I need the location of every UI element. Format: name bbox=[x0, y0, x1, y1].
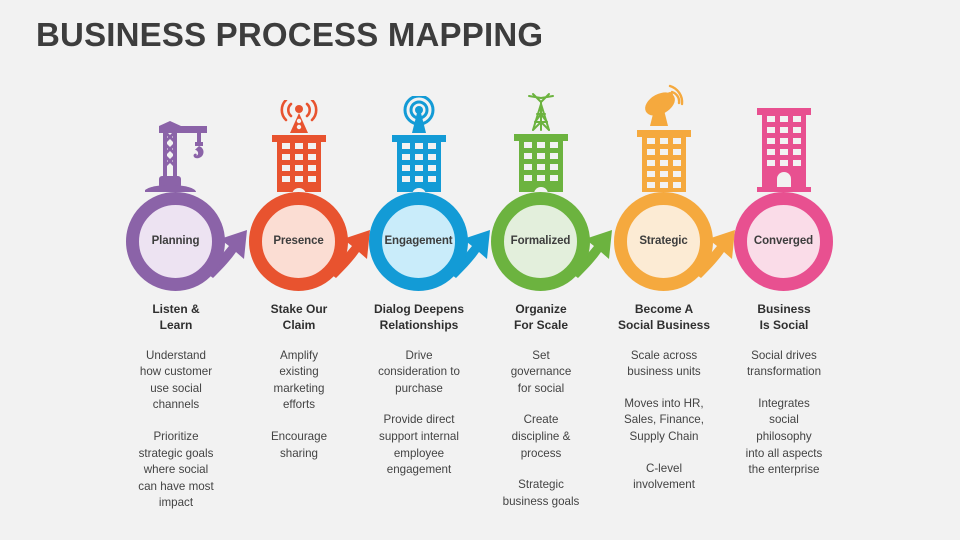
stage-icon-strategic bbox=[603, 40, 725, 192]
stage-point: Create discipline & process bbox=[480, 412, 602, 462]
stage-point: C-level involvement bbox=[603, 461, 725, 494]
process-stage-planning[interactable]: Planning Listen & LearnUnderstand how cu… bbox=[115, 40, 237, 527]
building-satellite-dish-icon bbox=[634, 84, 694, 192]
stage-points-presence: Amplify existing marketing effortsEncour… bbox=[238, 348, 360, 462]
stage-icon-presence bbox=[238, 40, 360, 192]
stage-circle-strategic[interactable]: Strategic bbox=[614, 192, 713, 291]
process-stage-presence[interactable]: Presence Stake Our ClaimAmplify existing… bbox=[238, 40, 360, 477]
stage-circle-wrap-planning: Planning bbox=[115, 192, 237, 292]
stage-circle-label: Engagement bbox=[384, 235, 452, 248]
stage-icon-engagement bbox=[358, 40, 480, 192]
stage-points-strategic: Scale across business unitsMoves into HR… bbox=[603, 348, 725, 494]
stage-heading-planning: Listen & Learn bbox=[115, 302, 237, 334]
stage-points-formalized: Set governance for socialCreate discipli… bbox=[480, 348, 602, 511]
building-lattice-tower-icon bbox=[511, 92, 571, 192]
building-radio-tower-icon bbox=[269, 100, 329, 192]
stage-circle-wrap-presence: Presence bbox=[238, 192, 360, 292]
stage-circle-engagement[interactable]: Engagement bbox=[369, 192, 468, 291]
stage-heading-presence: Stake Our Claim bbox=[238, 302, 360, 334]
stage-points-converged: Social drives transformationIntegrates s… bbox=[723, 348, 845, 479]
stage-circle-planning[interactable]: Planning bbox=[126, 192, 225, 291]
stage-circle-label: Strategic bbox=[639, 235, 687, 248]
stage-circle-wrap-converged: Converged bbox=[723, 192, 845, 292]
stage-circle-wrap-engagement: Engagement bbox=[358, 192, 480, 292]
stage-point: Integrates social philosophy into all as… bbox=[723, 396, 845, 479]
stage-circle-label: Converged bbox=[754, 235, 813, 248]
stage-heading-engagement: Dialog Deepens Relationships bbox=[358, 302, 480, 334]
stage-point: Social drives transformation bbox=[723, 348, 845, 381]
process-stage-strategic[interactable]: Strategic Become A Social BusinessScale … bbox=[603, 40, 725, 509]
stage-point: Understand how customer use social chann… bbox=[115, 348, 237, 414]
stage-circle-presence[interactable]: Presence bbox=[249, 192, 348, 291]
process-stage-engagement[interactable]: Engagement Dialog Deepens RelationshipsD… bbox=[358, 40, 480, 494]
stage-point: Strategic business goals bbox=[480, 477, 602, 510]
stage-circle-wrap-formalized: Formalized bbox=[480, 192, 602, 292]
stage-heading-converged: Business Is Social bbox=[723, 302, 845, 334]
stage-circle-label: Formalized bbox=[511, 235, 571, 248]
stage-point: Set governance for social bbox=[480, 348, 602, 398]
stage-circle-wrap-strategic: Strategic bbox=[603, 192, 725, 292]
stage-icon-planning bbox=[115, 40, 237, 192]
stage-points-planning: Understand how customer use social chann… bbox=[115, 348, 237, 512]
slide-canvas: BUSINESS PROCESS MAPPING Planning Listen… bbox=[0, 0, 960, 540]
stage-point: Encourage sharing bbox=[238, 429, 360, 462]
building-signal-broadcast-icon bbox=[389, 96, 449, 192]
stage-point: Moves into HR, Sales, Finance, Supply Ch… bbox=[603, 396, 725, 446]
stage-point: Drive consideration to purchase bbox=[358, 348, 480, 398]
stage-heading-strategic: Become A Social Business bbox=[603, 302, 725, 334]
process-stage-formalized[interactable]: Formalized Organize For ScaleSet governa… bbox=[480, 40, 602, 525]
building-icon bbox=[754, 98, 814, 192]
stage-heading-formalized: Organize For Scale bbox=[480, 302, 602, 334]
stage-point: Prioritize strategic goals where social … bbox=[115, 429, 237, 512]
stage-circle-converged[interactable]: Converged bbox=[734, 192, 833, 291]
stage-point: Provide direct support internal employee… bbox=[358, 412, 480, 478]
stage-icon-converged bbox=[723, 40, 845, 192]
stage-point: Amplify existing marketing efforts bbox=[238, 348, 360, 414]
stage-point: Scale across business units bbox=[603, 348, 725, 381]
stage-circle-label: Planning bbox=[152, 235, 200, 248]
process-stage-converged[interactable]: Converged Business Is SocialSocial drive… bbox=[723, 40, 845, 494]
stage-points-engagement: Drive consideration to purchaseProvide d… bbox=[358, 348, 480, 479]
stage-icon-formalized bbox=[480, 40, 602, 192]
stage-circle-label: Presence bbox=[273, 235, 323, 248]
construction-crane-icon bbox=[145, 120, 207, 192]
stage-circle-formalized[interactable]: Formalized bbox=[491, 192, 590, 291]
